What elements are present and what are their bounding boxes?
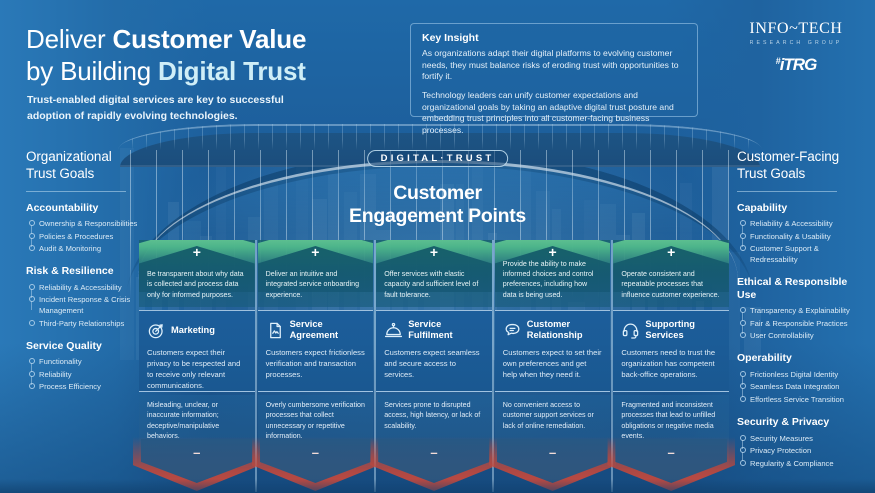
card-description: Customers expect their privacy to be res… xyxy=(147,347,247,391)
page-title: Deliver Customer Value by Building Digit… xyxy=(26,24,406,87)
minus-icon: – xyxy=(613,446,729,459)
plus-icon: + xyxy=(495,245,611,259)
title-line1-bold: Customer Value xyxy=(113,24,307,54)
goal-group: Ethical & Responsible UseTransparency & … xyxy=(737,276,865,341)
bottom-bar xyxy=(0,479,875,493)
right-panel-divider xyxy=(737,191,837,192)
engagement-point-column: +Operate consistent and repeatable proce… xyxy=(613,240,729,490)
goal-list: Reliability & AccessibilityFunctionality… xyxy=(737,218,865,265)
positive-outcome-panel: +Operate consistent and repeatable proce… xyxy=(613,240,729,307)
right-panel-heading-line2: Trust Goals xyxy=(737,166,805,181)
goal-group-title: Ethical & Responsible Use xyxy=(737,276,865,301)
right-panel-heading: Customer-Facing Trust Goals xyxy=(737,148,865,183)
card-title: Marketing xyxy=(171,325,215,336)
goal-list-item: Functionality xyxy=(26,356,154,367)
goal-list-item: Customer Support & Redressability xyxy=(737,243,865,265)
goal-list: Transparency & ExplainabilityFair & Resp… xyxy=(737,305,865,341)
positive-outcome-panel: +Provide the ability to make informed ch… xyxy=(495,240,611,307)
goal-list-item: Frictionless Digital Identity xyxy=(737,369,865,380)
card-title: ServiceAgreement xyxy=(290,319,339,341)
negative-outcome-panel: No convenient access to customer support… xyxy=(495,395,611,467)
minus-icon: – xyxy=(139,446,255,459)
plus-icon: + xyxy=(376,245,492,259)
goal-group-title: Capability xyxy=(737,202,865,215)
minus-icon: – xyxy=(376,446,492,459)
minus-icon: – xyxy=(495,446,611,459)
plus-icon: + xyxy=(258,245,374,259)
goal-list-item: Fair & Responsible Practices xyxy=(737,318,865,329)
engagement-point-card[interactable]: SupportingServicesCustomers need to trus… xyxy=(613,310,729,392)
logo-brand: INFO~TECH xyxy=(731,20,861,38)
negative-outcome-text: Fragmented and inconsistent processes th… xyxy=(621,400,721,441)
key-insight-heading: Key Insight xyxy=(422,32,686,44)
left-panel-divider xyxy=(26,191,126,192)
plus-icon: + xyxy=(139,245,255,259)
positive-outcome-text: Operate consistent and repeatable proces… xyxy=(621,269,721,300)
organizational-trust-goals-panel: Organizational Trust Goals Accountabilit… xyxy=(26,148,154,403)
negative-outcome-panel: Fragmented and inconsistent processes th… xyxy=(613,395,729,467)
logo: INFO~TECH RESEARCH GROUP #iTRG xyxy=(731,20,861,75)
card-description: Customers need to trust the organization… xyxy=(621,347,721,380)
goal-group: CapabilityReliability & AccessibilityFun… xyxy=(737,202,865,266)
goal-list-item: Policies & Procedures xyxy=(26,231,154,242)
engagement-point-card[interactable]: ServiceAgreementCustomers expect frictio… xyxy=(258,310,374,392)
goal-list: Ownership & ResponsibilitiesPolicies & P… xyxy=(26,218,154,254)
goal-list-item: Reliability & Accessibility xyxy=(737,218,865,229)
card-title: CustomerRelationship xyxy=(527,319,583,341)
center-heading-line2: Engagement Points xyxy=(349,205,526,228)
goal-list-item: Regularity & Compliance xyxy=(737,458,865,469)
goal-group-title: Operability xyxy=(737,352,865,365)
goal-group: OperabilityFrictionless Digital Identity… xyxy=(737,352,865,405)
goal-list-item: Ownership & Responsibilities xyxy=(26,218,154,229)
negative-outcome-panel: Overly cumbersome verification processes… xyxy=(258,395,374,467)
engagement-point-card[interactable]: MarketingCustomers expect their privacy … xyxy=(139,310,255,392)
engagement-point-column: +Offer services with elastic capacity an… xyxy=(376,240,492,490)
goal-group: Service QualityFunctionalityReliabilityP… xyxy=(26,340,154,393)
key-insight-paragraph-2: Technology leaders can unify customer ex… xyxy=(422,90,686,137)
goal-group: Security & PrivacySecurity MeasuresPriva… xyxy=(737,416,865,469)
title-line2-plain: by Building xyxy=(26,56,158,86)
left-panel-heading-line2: Trust Goals xyxy=(26,166,94,181)
negative-outcome-text: Misleading, unclear, or inaccurate infor… xyxy=(147,400,247,441)
engagement-point-card[interactable]: CustomerRelationshipCustomers expect to … xyxy=(495,310,611,392)
goal-list: Frictionless Digital IdentitySeamless Da… xyxy=(737,369,865,405)
positive-outcome-text: Provide the ability to make informed cho… xyxy=(503,259,603,300)
service-bell-icon xyxy=(384,321,403,340)
target-icon xyxy=(147,321,166,340)
engagement-point-columns: +Be transparent about why data is collec… xyxy=(139,240,729,490)
page-subtitle: Trust-enabled digital services are key t… xyxy=(27,93,327,124)
customer-facing-trust-goals-panel: Customer-Facing Trust Goals CapabilityRe… xyxy=(737,148,865,480)
engagement-point-column: +Be transparent about why data is collec… xyxy=(139,240,255,490)
digital-trust-badge: DIGITAL·TRUST xyxy=(367,150,509,167)
negative-outcome-panel: Services prone to disrupted access, high… xyxy=(376,395,492,467)
goal-list-item: Process Efficiency xyxy=(26,381,154,392)
left-panel-heading: Organizational Trust Goals xyxy=(26,148,154,183)
negative-outcome-panel: Misleading, unclear, or inaccurate infor… xyxy=(139,395,255,467)
engagement-point-column: +Provide the ability to make informed ch… xyxy=(495,240,611,490)
chat-bubbles-icon xyxy=(503,321,522,340)
goal-list: FunctionalityReliabilityProcess Efficien… xyxy=(26,356,154,392)
logo-tagline: RESEARCH GROUP xyxy=(731,40,861,46)
goal-list-item: Transparency & Explainability xyxy=(737,305,865,316)
positive-outcome-panel: +Offer services with elastic capacity an… xyxy=(376,240,492,307)
card-description: Customers expect seamless and secure acc… xyxy=(384,347,484,380)
negative-outcome-text: Overly cumbersome verification processes… xyxy=(266,400,366,441)
card-title: ServiceFulfilment xyxy=(408,319,452,341)
goal-list: Reliability & AccessibilityIncident Resp… xyxy=(26,282,154,329)
infographic-canvas: Deliver Customer Value by Building Digit… xyxy=(0,0,875,493)
goal-list-item: User Controllability xyxy=(737,330,865,341)
goal-list-item: Security Measures xyxy=(737,433,865,444)
minus-icon: – xyxy=(258,446,374,459)
goal-list-item: Privacy Protection xyxy=(737,445,865,456)
goal-group-title: Security & Privacy xyxy=(737,416,865,429)
logo-subbrand: #iTRG xyxy=(731,55,861,75)
card-title: SupportingServices xyxy=(645,319,695,341)
goal-list-item: Seamless Data Integration xyxy=(737,381,865,392)
goal-list-item: Incident Response & Crisis Management xyxy=(26,294,154,316)
positive-outcome-text: Offer services with elastic capacity and… xyxy=(384,269,484,300)
positive-outcome-panel: +Deliver an intuitive and integrated ser… xyxy=(258,240,374,307)
document-contract-icon xyxy=(266,321,285,340)
engagement-point-card[interactable]: ServiceFulfilmentCustomers expect seamle… xyxy=(376,310,492,392)
goal-list-item: Functionality & Usability xyxy=(737,231,865,242)
center-heading-line1: Customer xyxy=(349,182,526,205)
title-line2-bold: Digital Trust xyxy=(158,56,306,86)
goal-group-title: Service Quality xyxy=(26,340,154,353)
goal-group-title: Accountability xyxy=(26,202,154,215)
card-header: ServiceAgreement xyxy=(266,318,366,342)
headset-support-icon xyxy=(621,321,640,340)
goal-list-item: Reliability & Accessibility xyxy=(26,282,154,293)
card-header: CustomerRelationship xyxy=(503,318,603,342)
card-header: SupportingServices xyxy=(621,318,721,342)
card-header: ServiceFulfilment xyxy=(384,318,484,342)
plus-icon: + xyxy=(613,245,729,259)
goal-list-item: Reliability xyxy=(26,369,154,380)
key-insight-box: Key Insight As organizations adapt their… xyxy=(410,23,698,117)
card-description: Customers expect frictionless verificati… xyxy=(266,347,366,380)
engagement-point-column: +Deliver an intuitive and integrated ser… xyxy=(258,240,374,490)
goal-list-item: Third-Party Relationships xyxy=(26,318,154,329)
goal-list-item: Effortless Service Transition xyxy=(737,394,865,405)
title-line1-plain: Deliver xyxy=(26,24,113,54)
goal-group-title: Risk & Resilience xyxy=(26,265,154,278)
goal-group: Risk & ResilienceReliability & Accessibi… xyxy=(26,265,154,329)
card-description: Customers expect to set their own prefer… xyxy=(503,347,603,380)
logo-subbrand-text: iTRG xyxy=(780,55,817,74)
positive-outcome-text: Deliver an intuitive and integrated serv… xyxy=(266,269,366,300)
positive-outcome-text: Be transparent about why data is collect… xyxy=(147,269,247,300)
goal-list: Security MeasuresPrivacy ProtectionRegul… xyxy=(737,433,865,469)
goal-list-item: Audit & Monitoring xyxy=(26,243,154,254)
positive-outcome-panel: +Be transparent about why data is collec… xyxy=(139,240,255,307)
key-insight-paragraph-1: As organizations adapt their digital pla… xyxy=(422,48,686,83)
goal-group: AccountabilityOwnership & Responsibiliti… xyxy=(26,202,154,255)
right-panel-heading-line1: Customer-Facing xyxy=(737,149,839,164)
card-header: Marketing xyxy=(147,318,247,342)
left-panel-heading-line1: Organizational xyxy=(26,149,112,164)
negative-outcome-text: Services prone to disrupted access, high… xyxy=(384,400,484,431)
center-heading: Customer Engagement Points xyxy=(349,182,526,227)
negative-outcome-text: No convenient access to customer support… xyxy=(503,400,603,431)
